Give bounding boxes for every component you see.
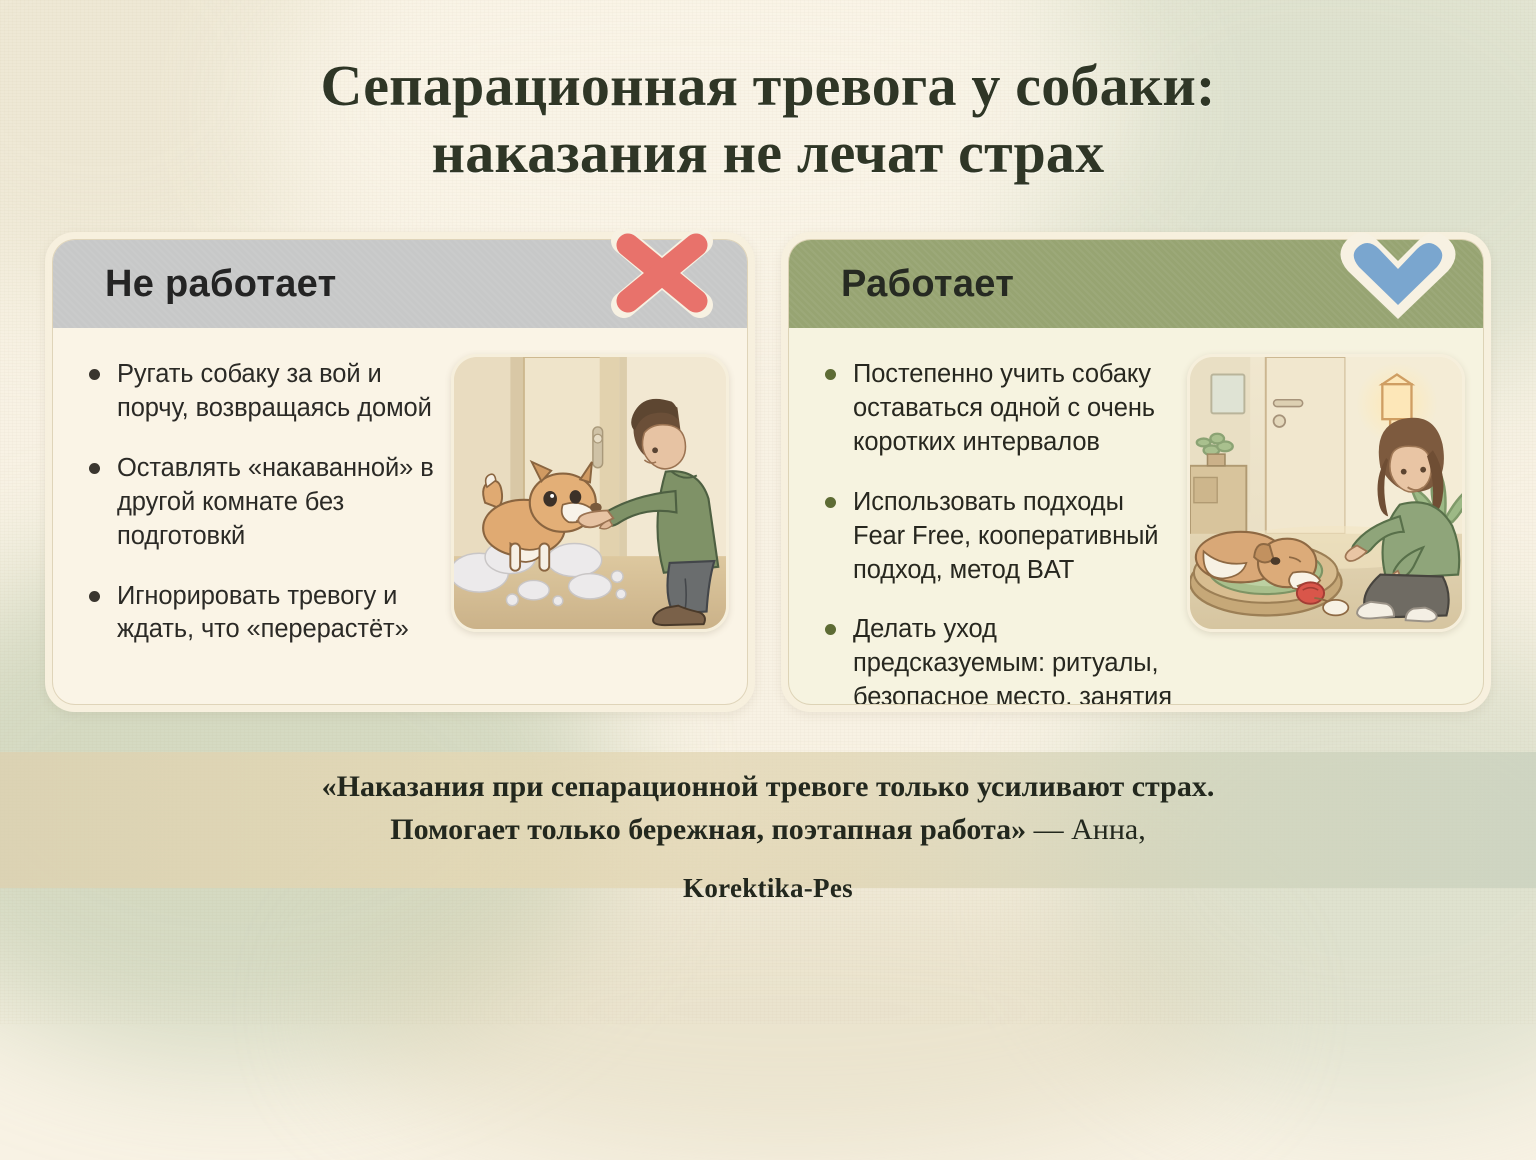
list-item: Оставлять «накаванной» в другой комнате … — [87, 452, 445, 554]
title-line-2: наказания не лечат страх — [432, 120, 1105, 185]
quote-brand: Korektika-Pes — [120, 873, 1416, 904]
woman-with-calm-dog-illustration — [1187, 354, 1465, 632]
quote-line-1: «Наказания при сепарационной тревоге тол… — [322, 770, 1215, 803]
quote-author: — Анна, — [1026, 813, 1146, 846]
title-line-1: Сепарационная тревога у собаки: — [320, 53, 1215, 118]
card-title-working: Работает — [841, 263, 1014, 306]
man-scolding-dog-illustration — [451, 354, 729, 632]
quote-block: «Наказания при сепарационной тревоге тол… — [120, 766, 1416, 904]
list-item: Постепенно учить собаку оставаться одной… — [823, 358, 1181, 460]
card-not-working: Не работает Ругать собаку за вой и порчу… — [45, 232, 755, 712]
card-title-not-working: Не работает — [105, 263, 337, 306]
list-item: Делать уход предсказуемым: ритуалы, безо… — [823, 613, 1181, 705]
quote-line-2: Помогает только бережная, поэтапная рабо… — [390, 813, 1026, 846]
heart-icon — [1332, 217, 1464, 329]
list-item: Игнорировать тревогу и ждать, что «перер… — [87, 580, 445, 648]
cross-icon — [596, 217, 728, 329]
page-title: Сепарационная тревога у собаки: наказани… — [0, 52, 1536, 187]
bullet-list-working: Постепенно учить собаку оставаться одной… — [823, 346, 1181, 686]
card-working: Работает Постепенно учить собаку остават… — [781, 232, 1491, 712]
list-item: Ругать собаку за вой и порчу, возвращаяс… — [87, 358, 445, 426]
bullet-list-not-working: Ругать собаку за вой и порчу, возвращаяс… — [87, 346, 445, 686]
list-item: Использовать подходы Fear Free, кооперат… — [823, 486, 1181, 588]
